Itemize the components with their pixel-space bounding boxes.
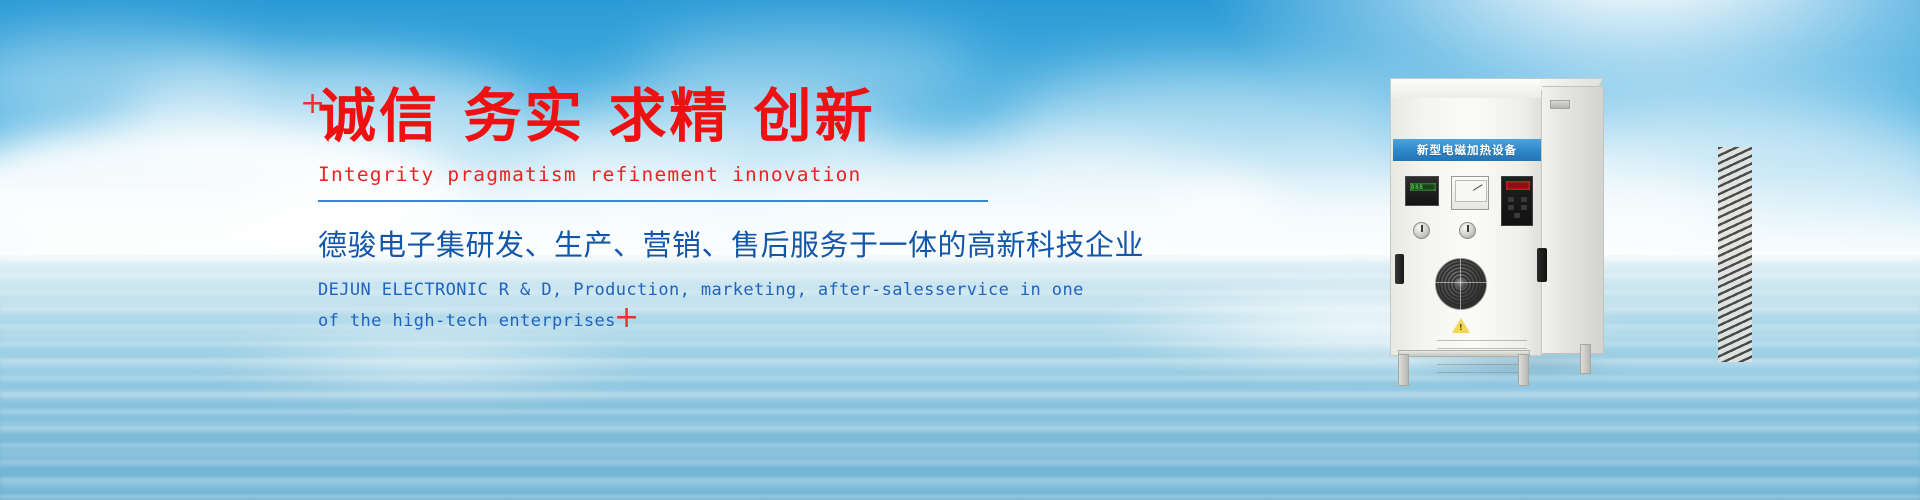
analog-meter xyxy=(1451,176,1489,210)
digital-display-value: 888 xyxy=(1411,184,1423,191)
banner-tagline-english: Integrity pragmatism refinement innovati… xyxy=(318,163,1038,186)
description-english-line-1: DEJUN ELECTRONIC R & D, Production, mark… xyxy=(318,275,1038,306)
divider-rule xyxy=(318,200,988,202)
cabinet-latch[interactable] xyxy=(1537,248,1547,282)
cabinet-side-panel xyxy=(1542,86,1604,354)
cabinet-handle[interactable] xyxy=(1395,254,1404,284)
side-cap-detail xyxy=(1550,100,1570,109)
control-keypad[interactable] xyxy=(1501,176,1533,226)
keypad-button[interactable] xyxy=(1508,205,1514,210)
machine-leg xyxy=(1398,354,1409,386)
description-english-line-2: of the high-tech enterprises xyxy=(318,306,1038,337)
machine-base-bar xyxy=(1398,350,1530,357)
banner-copy-block: 诚信 务实 求精 创新 Integrity pragmatism refinem… xyxy=(318,86,1038,338)
ventilation-grille xyxy=(1718,147,1752,362)
keypad-display-screen xyxy=(1506,181,1530,190)
company-description-chinese: 德骏电子集研发、生产、营销、售后服务于一体的高新科技企业 xyxy=(318,222,1038,264)
banner-headline: 诚信 务实 求精 创新 xyxy=(318,86,1038,147)
warning-triangle-icon xyxy=(1452,318,1470,333)
machine-leg xyxy=(1580,344,1591,374)
product-name-label: 新型电磁加热设备 xyxy=(1393,139,1541,161)
fan-crosshair-vertical xyxy=(1460,251,1461,315)
analog-meter-needle xyxy=(1473,184,1483,191)
cabinet-front-panel: 新型电磁加热设备 888 xyxy=(1390,98,1542,356)
promotional-banner: + + 诚信 务实 求精 创新 Integrity pragmatism ref… xyxy=(0,0,1920,500)
keypad-button[interactable] xyxy=(1514,213,1520,218)
cabinet-top-surface xyxy=(1390,78,1542,100)
keypad-button[interactable] xyxy=(1508,197,1514,202)
keypad-button[interactable] xyxy=(1521,205,1527,210)
analog-meter-dial xyxy=(1455,180,1487,202)
control-knob-left[interactable] xyxy=(1413,222,1430,239)
specification-label xyxy=(1437,340,1527,374)
fan-crosshair-horizontal xyxy=(1429,282,1493,283)
control-knob-right[interactable] xyxy=(1459,222,1476,239)
product-machine: 新型电磁加热设备 888 xyxy=(1390,60,1640,380)
keypad-button[interactable] xyxy=(1521,197,1527,202)
digital-temperature-meter: 888 xyxy=(1405,176,1439,206)
company-description-english: DEJUN ELECTRONIC R & D, Production, mark… xyxy=(318,275,1038,338)
cooling-fan-grille xyxy=(1435,258,1487,310)
machine-leg xyxy=(1518,354,1529,386)
product-name-text: 新型电磁加热设备 xyxy=(1417,142,1517,158)
